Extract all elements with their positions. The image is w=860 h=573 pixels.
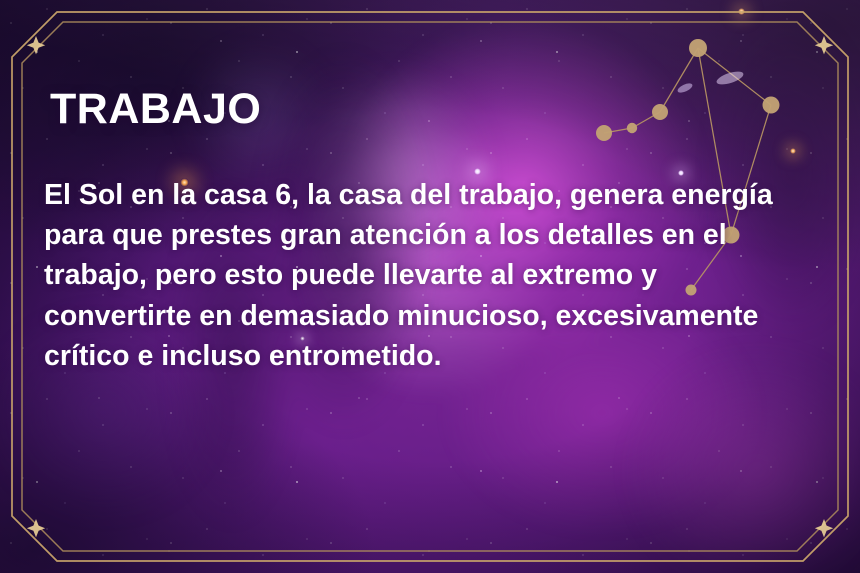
page-title: TRABAJO <box>50 88 784 131</box>
glow-star-orange-right <box>790 148 796 154</box>
body-paragraph: El Sol en la casa 6, la casa del trabajo… <box>44 175 779 376</box>
card-content: TRABAJO El Sol en la casa 6, la casa del… <box>44 88 784 376</box>
glow-star-top-edge <box>738 8 745 15</box>
horoscope-card: TRABAJO El Sol en la casa 6, la casa del… <box>0 0 860 573</box>
